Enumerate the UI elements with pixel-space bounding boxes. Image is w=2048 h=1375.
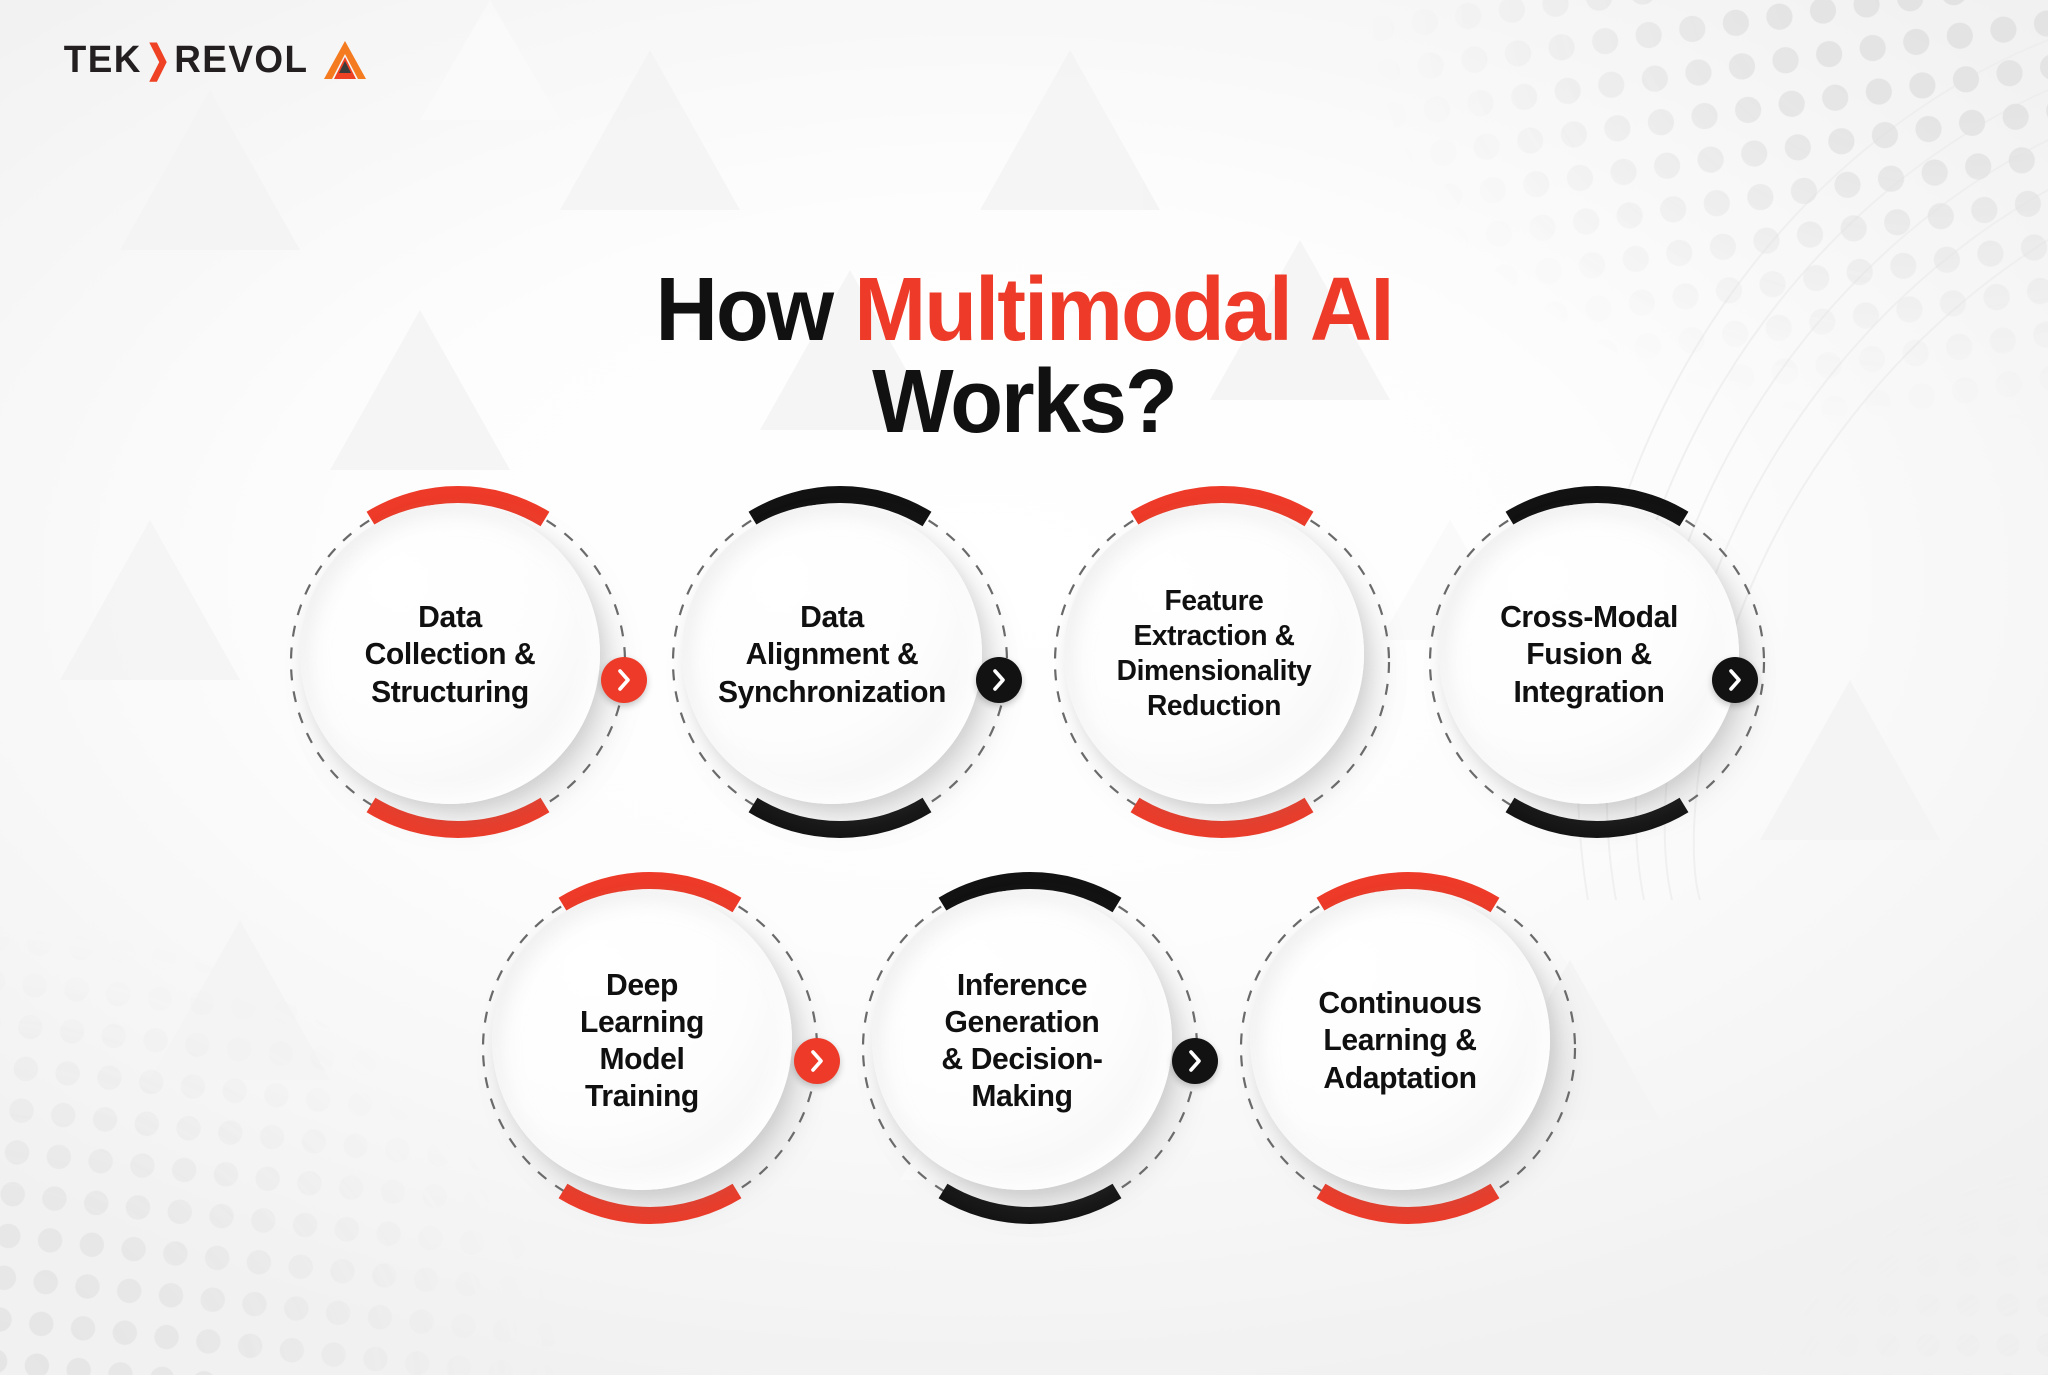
flow-step-6-arc-bottom bbox=[943, 1191, 1117, 1215]
flow-step-6[interactable]: Inference Generation & Decision- Making bbox=[855, 873, 1205, 1223]
flow-step-7-label: Continuous Learning & Adaptation bbox=[1255, 890, 1546, 1190]
flow-step-3[interactable]: Feature Extraction & Dimensionality Redu… bbox=[1047, 487, 1397, 837]
flow-step-3-label: Feature Extraction & Dimensionality Redu… bbox=[1069, 504, 1360, 804]
flow-step-3-arc-bottom bbox=[1135, 805, 1309, 829]
chevron-right-icon bbox=[808, 1049, 826, 1073]
connector-arrow-4-to-5[interactable] bbox=[1712, 657, 1758, 703]
chevron-right-icon bbox=[990, 668, 1008, 692]
chevron-right-icon bbox=[615, 668, 633, 692]
flow-step-5-arc-bottom bbox=[563, 1191, 737, 1215]
flow-step-2-label: Data Alignment & Synchronization bbox=[687, 504, 978, 804]
flow-step-2[interactable]: Data Alignment & Synchronization bbox=[665, 487, 1015, 837]
flow-step-5-label: Deep Learning Model Training bbox=[497, 890, 788, 1190]
flow-step-1-label: Data Collection & Structuring bbox=[305, 504, 596, 804]
flow-step-4-arc-bottom bbox=[1510, 805, 1684, 829]
flow-step-7-arc-bottom bbox=[1321, 1191, 1495, 1215]
flow-step-7[interactable]: Continuous Learning & Adaptation bbox=[1233, 873, 1583, 1223]
chevron-right-icon bbox=[1726, 668, 1744, 692]
connector-arrow-5-to-6[interactable] bbox=[794, 1038, 840, 1084]
flow-step-1-arc-bottom bbox=[371, 805, 545, 829]
connector-arrow-1-to-2[interactable] bbox=[601, 657, 647, 703]
flow-step-6-label: Inference Generation & Decision- Making bbox=[877, 890, 1168, 1190]
chevron-right-icon bbox=[1186, 1049, 1204, 1073]
flow-step-1[interactable]: Data Collection & Structuring bbox=[283, 487, 633, 837]
connector-arrow-6-to-7[interactable] bbox=[1172, 1038, 1218, 1084]
flow-step-4-label: Cross-Modal Fusion & Integration bbox=[1444, 504, 1735, 804]
connector-arrow-2-to-3[interactable] bbox=[976, 657, 1022, 703]
flow-step-5[interactable]: Deep Learning Model Training bbox=[475, 873, 825, 1223]
flow-step-2-arc-bottom bbox=[753, 805, 927, 829]
process-flow-diagram: Data Collection & Structuring Data Align… bbox=[0, 0, 2048, 1375]
